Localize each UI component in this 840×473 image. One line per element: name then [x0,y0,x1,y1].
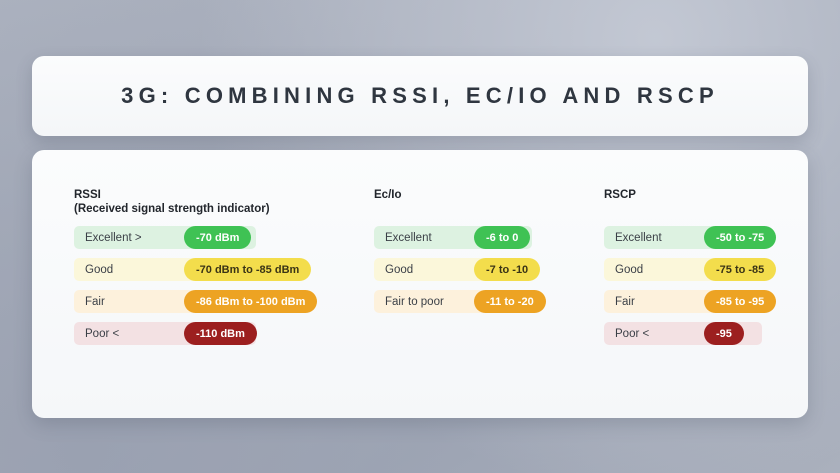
rating-label: Good [374,264,413,276]
rating-label: Fair [604,296,635,308]
rating-label: Poor < [74,328,119,340]
rating-row: Poor < -110 dBm [74,322,340,345]
rating-row: Fair -86 dBm to -100 dBm [74,290,340,313]
column-subtitle-text: (Received signal strength indicator) [74,202,340,216]
rating-value-pill: -7 to -10 [474,258,540,281]
rating-value-pill: -6 to 0 [474,226,530,249]
column-title-text: RSCP [604,189,636,201]
rating-value-pill: -110 dBm [184,322,257,345]
metric-column-rscp: RSCP Excellent -50 to -75 Good -75 to -8… [604,188,800,354]
rating-label: Fair to poor [374,296,444,308]
rating-value-pill: -11 to -20 [474,290,546,313]
title-card: 3G: COMBINING RSSI, EC/IO AND RSCP [32,56,808,136]
rating-rows-rssi: Excellent > -70 dBm Good -70 dBm to -85 … [74,226,340,345]
rating-rows-rscp: Excellent -50 to -75 Good -75 to -85 Fai… [604,226,800,345]
rating-row: Poor < -95 [604,322,800,345]
rating-label: Excellent [604,232,662,244]
rating-row: Excellent > -70 dBm [74,226,340,249]
rating-row: Excellent -50 to -75 [604,226,800,249]
column-title-text: Ec/Io [374,189,401,201]
rating-label: Fair [74,296,105,308]
column-heading-rssi: RSSI (Received signal strength indicator… [74,188,340,216]
rating-value-pill: -85 to -95 [704,290,776,313]
rating-value-pill: -70 dBm to -85 dBm [184,258,311,281]
rating-value-pill: -50 to -75 [704,226,776,249]
slide-canvas: 3G: COMBINING RSSI, EC/IO AND RSCP RSSI … [0,0,840,473]
rating-label: Excellent [374,232,432,244]
metric-columns: RSSI (Received signal strength indicator… [32,150,808,418]
rating-row: Fair -85 to -95 [604,290,800,313]
column-heading-ecio: Ec/Io [374,188,570,202]
rating-label: Excellent > [74,232,142,244]
metric-column-rssi: RSSI (Received signal strength indicator… [74,188,340,354]
metric-column-ecio: Ec/Io Excellent -6 to 0 Good -7 to -10 [374,188,570,322]
rating-label: Poor < [604,328,649,340]
rating-row: Good -70 dBm to -85 dBm [74,258,340,281]
rating-row: Fair to poor -11 to -20 [374,290,570,313]
column-title-text: RSSI [74,189,101,201]
rating-value-pill: -70 dBm [184,226,251,249]
page-title: 3G: COMBINING RSSI, EC/IO AND RSCP [121,83,719,109]
rating-rows-ecio: Excellent -6 to 0 Good -7 to -10 Fair to… [374,226,570,313]
rating-value-pill: -86 dBm to -100 dBm [184,290,317,313]
rating-value-pill: -75 to -85 [704,258,776,281]
column-heading-rscp: RSCP [604,188,800,202]
content-card: RSSI (Received signal strength indicator… [32,150,808,418]
rating-row: Good -7 to -10 [374,258,570,281]
rating-row: Excellent -6 to 0 [374,226,570,249]
rating-value-pill: -95 [704,322,744,345]
rating-row: Good -75 to -85 [604,258,800,281]
rating-label: Good [604,264,643,276]
rating-label: Good [74,264,113,276]
